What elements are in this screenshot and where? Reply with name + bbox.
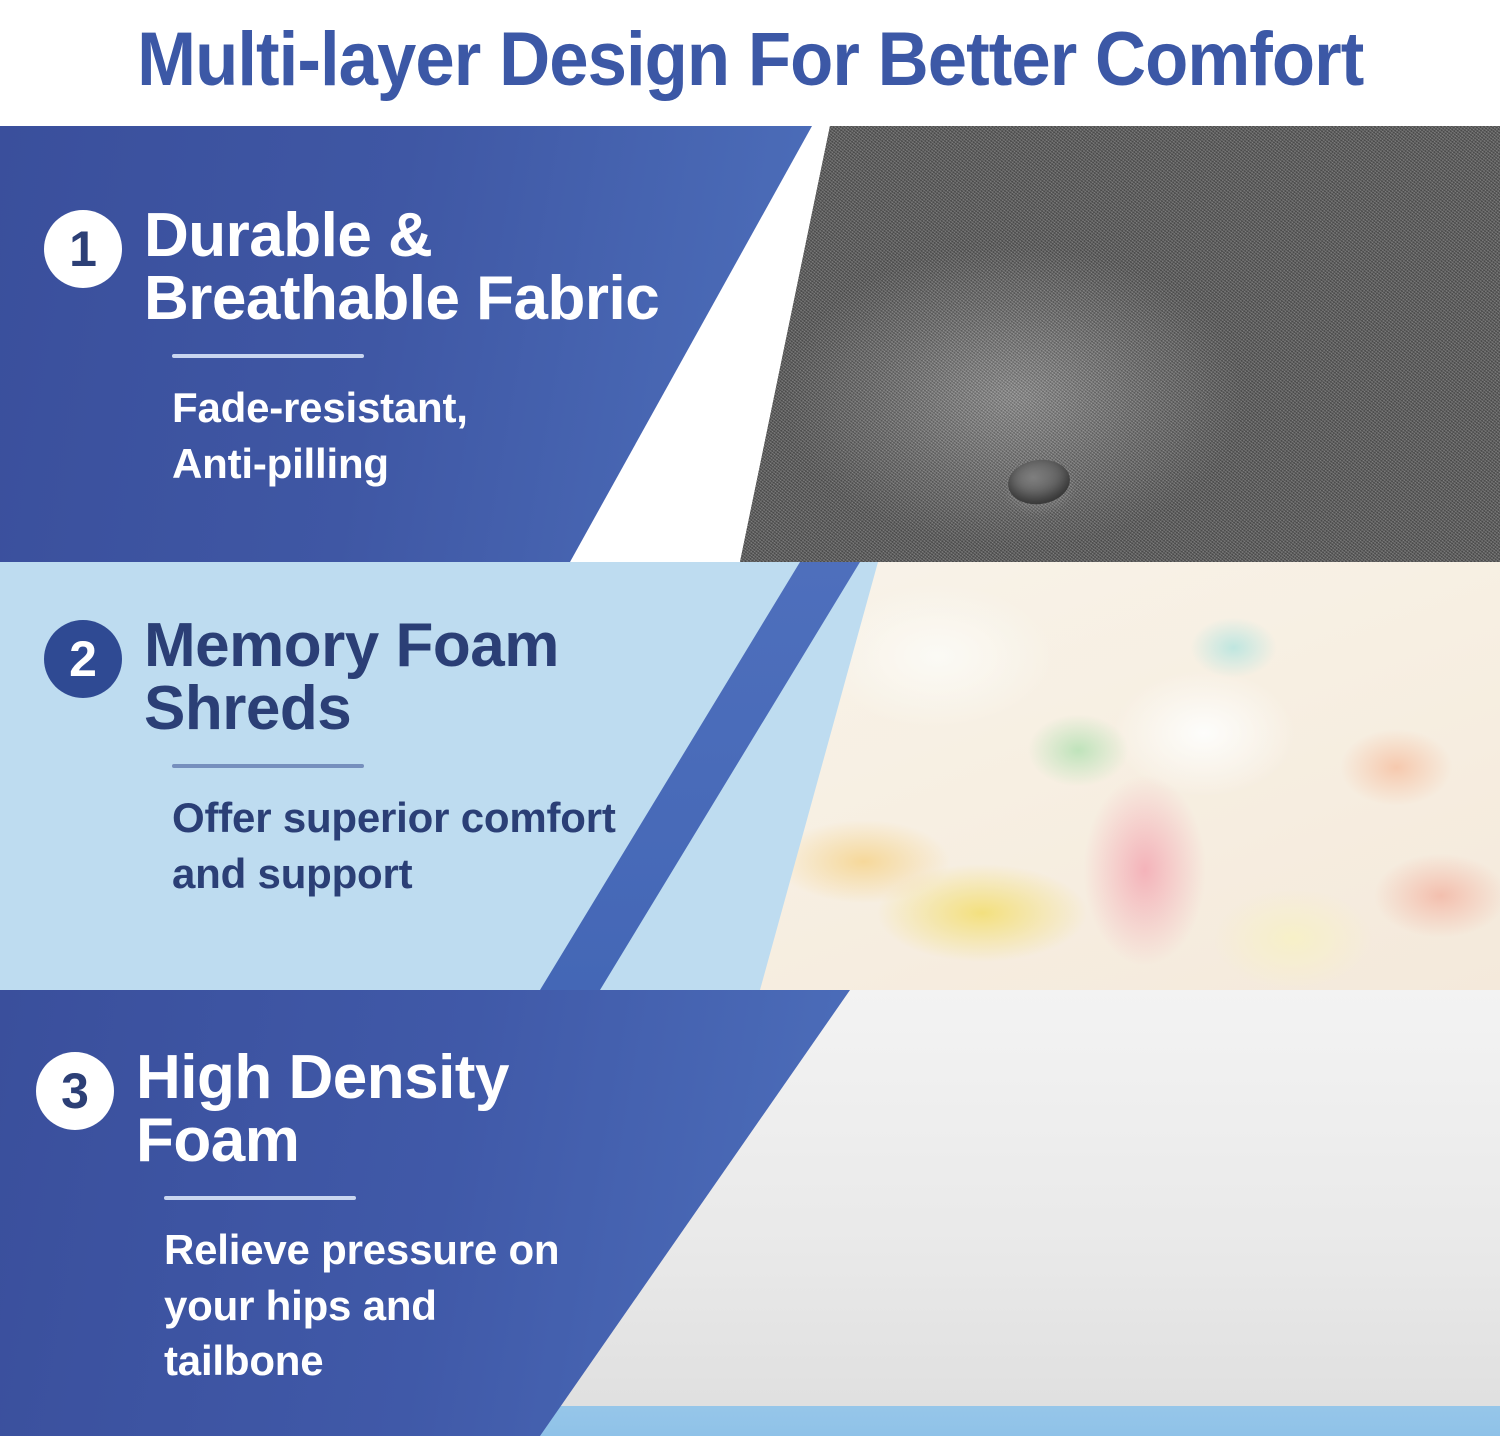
- feature-2-head-row: 2 Memory Foam Shreds: [44, 614, 616, 740]
- feature-3-heading-line2: Foam: [136, 1109, 509, 1172]
- feature-panel-2: 2 Memory Foam Shreds Offer superior comf…: [0, 562, 1500, 990]
- feature-3-divider: [164, 1196, 356, 1200]
- feature-panel-3: 3 High Density Foam Relieve pressure on …: [0, 990, 1500, 1436]
- feature-2-sub-line2: and support: [172, 846, 616, 901]
- feature-2-heading-line2: Shreds: [144, 677, 559, 740]
- feature-3-sub-line1: Relieve pressure on: [164, 1222, 559, 1277]
- feature-1-copy: 1 Durable & Breathable Fabric Fade-resis…: [44, 204, 659, 491]
- feature-2-sub-line1: Offer superior comfort: [172, 790, 616, 845]
- feature-3-copy: 3 High Density Foam Relieve pressure on …: [36, 1046, 559, 1389]
- feature-2-heading-line1: Memory Foam: [144, 614, 559, 677]
- feature-2-heading: Memory Foam Shreds: [144, 614, 559, 740]
- feature-1-sub-line2: Anti-pilling: [172, 436, 659, 491]
- feature-3-sub-line3: tailbone: [164, 1333, 559, 1388]
- feature-1-divider: [172, 354, 364, 358]
- feature-3-sub-line2: your hips and: [164, 1278, 559, 1333]
- step-badge-1: 1: [44, 210, 122, 288]
- feature-3-heading: High Density Foam: [136, 1046, 509, 1172]
- feature-1-subtext: Fade-resistant, Anti-pilling: [172, 380, 659, 491]
- feature-1-heading-line2: Breathable Fabric: [144, 267, 659, 330]
- feature-3-head-row: 3 High Density Foam: [36, 1046, 559, 1172]
- feature-3-heading-line1: High Density: [136, 1046, 509, 1109]
- memory-foam-shreds-photo: [760, 562, 1500, 990]
- page-title: Multi-layer Design For Better Comfort: [137, 22, 1363, 98]
- feature-1-sub-line1: Fade-resistant,: [172, 380, 659, 435]
- page-header: Multi-layer Design For Better Comfort: [0, 0, 1500, 120]
- feature-panel-1: 1 Durable & Breathable Fabric Fade-resis…: [0, 126, 1500, 562]
- feature-2-copy: 2 Memory Foam Shreds Offer superior comf…: [44, 614, 616, 901]
- feature-1-head-row: 1 Durable & Breathable Fabric: [44, 204, 659, 330]
- feature-1-heading: Durable & Breathable Fabric: [144, 204, 659, 330]
- feature-2-divider: [172, 764, 364, 768]
- step-badge-2: 2: [44, 620, 122, 698]
- step-badge-3: 3: [36, 1052, 114, 1130]
- feature-2-subtext: Offer superior comfort and support: [172, 790, 616, 901]
- feature-3-subtext: Relieve pressure on your hips and tailbo…: [164, 1222, 559, 1388]
- fabric-photo: [740, 126, 1500, 562]
- feature-1-heading-line1: Durable &: [144, 204, 659, 267]
